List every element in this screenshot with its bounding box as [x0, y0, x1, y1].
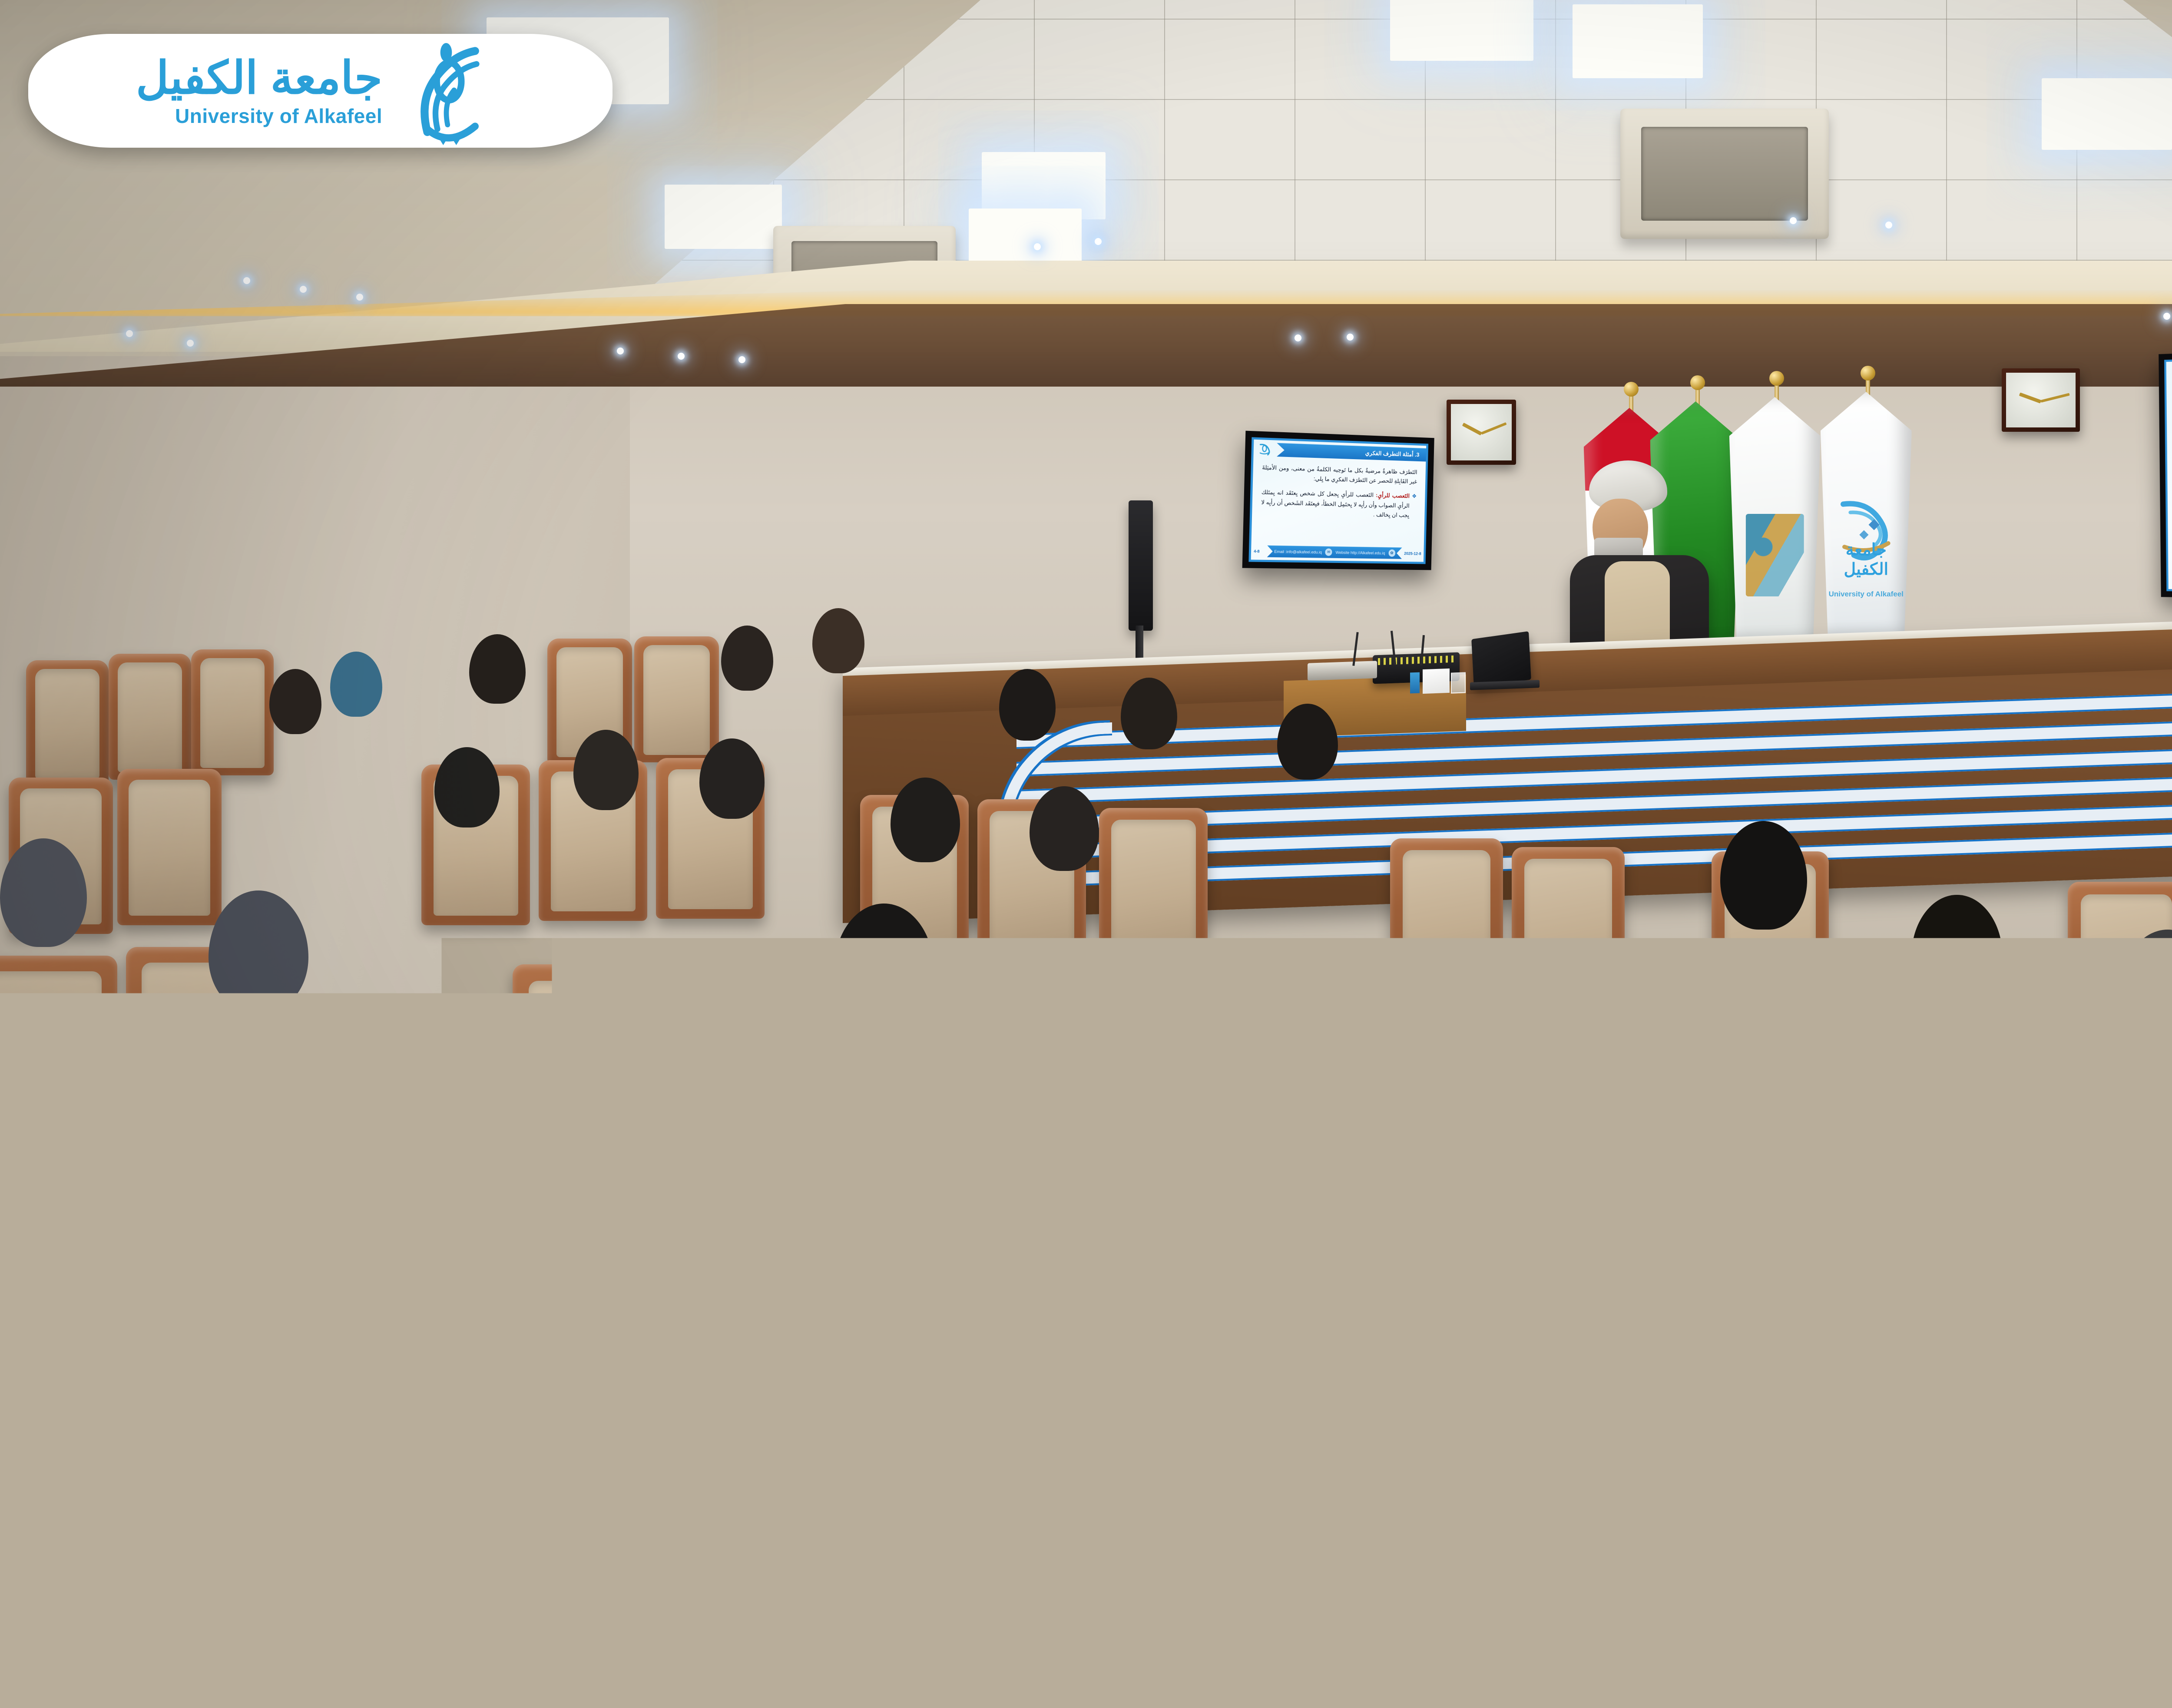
audience-person [721, 626, 773, 691]
auditorium-seat [117, 769, 222, 925]
auditorium-seat [191, 649, 274, 775]
audience-person [330, 652, 382, 717]
qs-star-icon: ★ [162, 1641, 199, 1678]
ui-greenmetric-logo[interactable]: UI Green Metric World University Ranking… [1211, 1592, 1389, 1667]
rur-sub3: RANKING [851, 1658, 935, 1669]
logo-arabic-name: جامعة الكفيل [136, 56, 382, 101]
ui-greenmetric-sub: World University Rankings [1273, 1658, 1389, 1667]
audience-person [209, 890, 308, 1012]
ui-greenmetric-ui: UI [1211, 1604, 1269, 1656]
ui-greenmetric-metric: Metric [1273, 1624, 1389, 1655]
rur-sub1: ROUND [851, 1634, 935, 1645]
the-letter-h: H [316, 1597, 355, 1662]
telegram-icon[interactable]: ➤ [2103, 1609, 2145, 1651]
auditorium-seat [0, 956, 117, 1182]
auditorium-seat [109, 654, 191, 780]
the-world-university-rankings-logo[interactable]: T H E WORLD UNIVERSITY RANKINGS [522, 1592, 750, 1668]
qs-stars-word: STARS [116, 1582, 261, 1627]
nrqiu-label: NRQIU [1751, 1602, 1890, 1658]
accreditation-ranking-bar: QS STARS ★ ★ ★ T H E IMPACT RANKINGS [0, 1552, 2172, 1708]
webometrics-wordmark: Webometrics [975, 1592, 1124, 1616]
u-multirank-logo[interactable]: u multirank [1412, 1591, 1574, 1669]
ieu-seal-icon [1596, 1597, 1662, 1662]
auditorium-seat [1099, 808, 1208, 973]
twitter-icon[interactable]: 🐦 [1960, 1609, 2002, 1651]
the-world-line1: WORLD [632, 1592, 750, 1616]
the-impact-rankings-logo[interactable]: T H E IMPACT RANKINGS [283, 1597, 499, 1662]
social-links-group[interactable]: f 🐦 in ◉ ➤ alkafeeleduiq [1912, 1607, 2172, 1653]
auditorium-seat [1659, 1043, 1816, 1294]
the-world-line3: RANKINGS [632, 1644, 750, 1668]
the-world-line2: UNIVERSITY [632, 1618, 750, 1642]
audience-person [1277, 704, 1338, 780]
webometrics-logo[interactable]: Webometrics RANKING WEB OF UNIVERSITIES [958, 1584, 1189, 1676]
qs-mark: QS [23, 1582, 110, 1637]
webometrics-line2: RANKING WEB [970, 1619, 1177, 1647]
rur-eye-globe-icon [772, 1593, 845, 1666]
the-letter-h: H [555, 1592, 593, 1668]
the-letter-e: E [593, 1592, 629, 1668]
auditorium-seat [26, 660, 109, 786]
audience-person [1121, 678, 1177, 749]
auditorium-seat [808, 1260, 1016, 1599]
social-handle[interactable]: alkafeeleduiq [2161, 1607, 2172, 1653]
rur-sub2: UNIVERSITY [851, 1646, 935, 1657]
auditorium-seat [634, 636, 719, 762]
photo-canvas: جامعة الكفيل University of Alkafeel [0, 0, 2172, 1708]
the-impact-line2: RANKINGS [394, 1623, 499, 1647]
audience-person [999, 669, 1056, 741]
auditorium-seat [669, 960, 817, 1195]
qs-star-icon: ★ [203, 1641, 240, 1678]
audience-person [1030, 977, 1138, 1112]
auditorium-seat [1512, 847, 1625, 1016]
auditorium-seat [0, 1242, 152, 1572]
audience-person [269, 669, 321, 734]
logo-wordmark: جامعة الكفيل University of Alkafeel [136, 56, 382, 126]
the-impact-line1: IMPACT [394, 1597, 499, 1621]
the-letter-t: T [522, 1592, 555, 1668]
audience-person [1082, 1325, 1255, 1551]
audience-person [434, 747, 500, 828]
audience-person [891, 778, 960, 862]
ieu-nrqiu-group[interactable]: IEU NRQIU [1596, 1597, 1890, 1662]
university-logo-badge: جامعة الكفيل University of Alkafeel [28, 34, 613, 148]
qs-stars-logo[interactable]: QS STARS ★ ★ ★ [23, 1582, 261, 1678]
qs-star-icon: ★ [122, 1641, 158, 1678]
auditorium-seat [161, 1229, 365, 1559]
rur-ranking-logo[interactable]: RUR ROUND UNIVERSITY RANKING [772, 1591, 935, 1669]
audience-person [699, 738, 765, 819]
audience-person [1720, 821, 1807, 930]
alkafeel-logo-icon [405, 36, 505, 145]
logo-english-name: University of Alkafeel [175, 106, 382, 126]
linkedin-icon[interactable]: in [2008, 1609, 2049, 1651]
ieu-label: IEU [1670, 1602, 1742, 1658]
audience-person [1911, 895, 2003, 1008]
webometrics-line3: OF UNIVERSITIES [958, 1650, 1189, 1676]
audience-person [1030, 786, 1099, 871]
multirank-wordmark: multirank [1412, 1633, 1574, 1669]
audience-seating-area [0, 0, 2172, 1708]
the-letter-e: E [355, 1597, 391, 1662]
auditorium-seat [1390, 838, 1503, 1008]
instagram-icon[interactable]: ◉ [2056, 1609, 2097, 1651]
ui-greenmetric-green: Green [1273, 1592, 1389, 1624]
sdg-color-strip [394, 1649, 499, 1662]
rur-abbr: RUR [851, 1586, 935, 1633]
the-letter-t: T [283, 1597, 316, 1662]
audience-person [1542, 1086, 1655, 1229]
facebook-icon[interactable]: f [1912, 1609, 1954, 1651]
audience-person [469, 634, 526, 704]
audience-person [1368, 990, 1477, 1125]
audience-person [812, 608, 864, 673]
auditorium-seat [1138, 1008, 1290, 1251]
auditorium-seat [2020, 1077, 2172, 1338]
bar-chart-icon [1130, 1584, 1172, 1616]
